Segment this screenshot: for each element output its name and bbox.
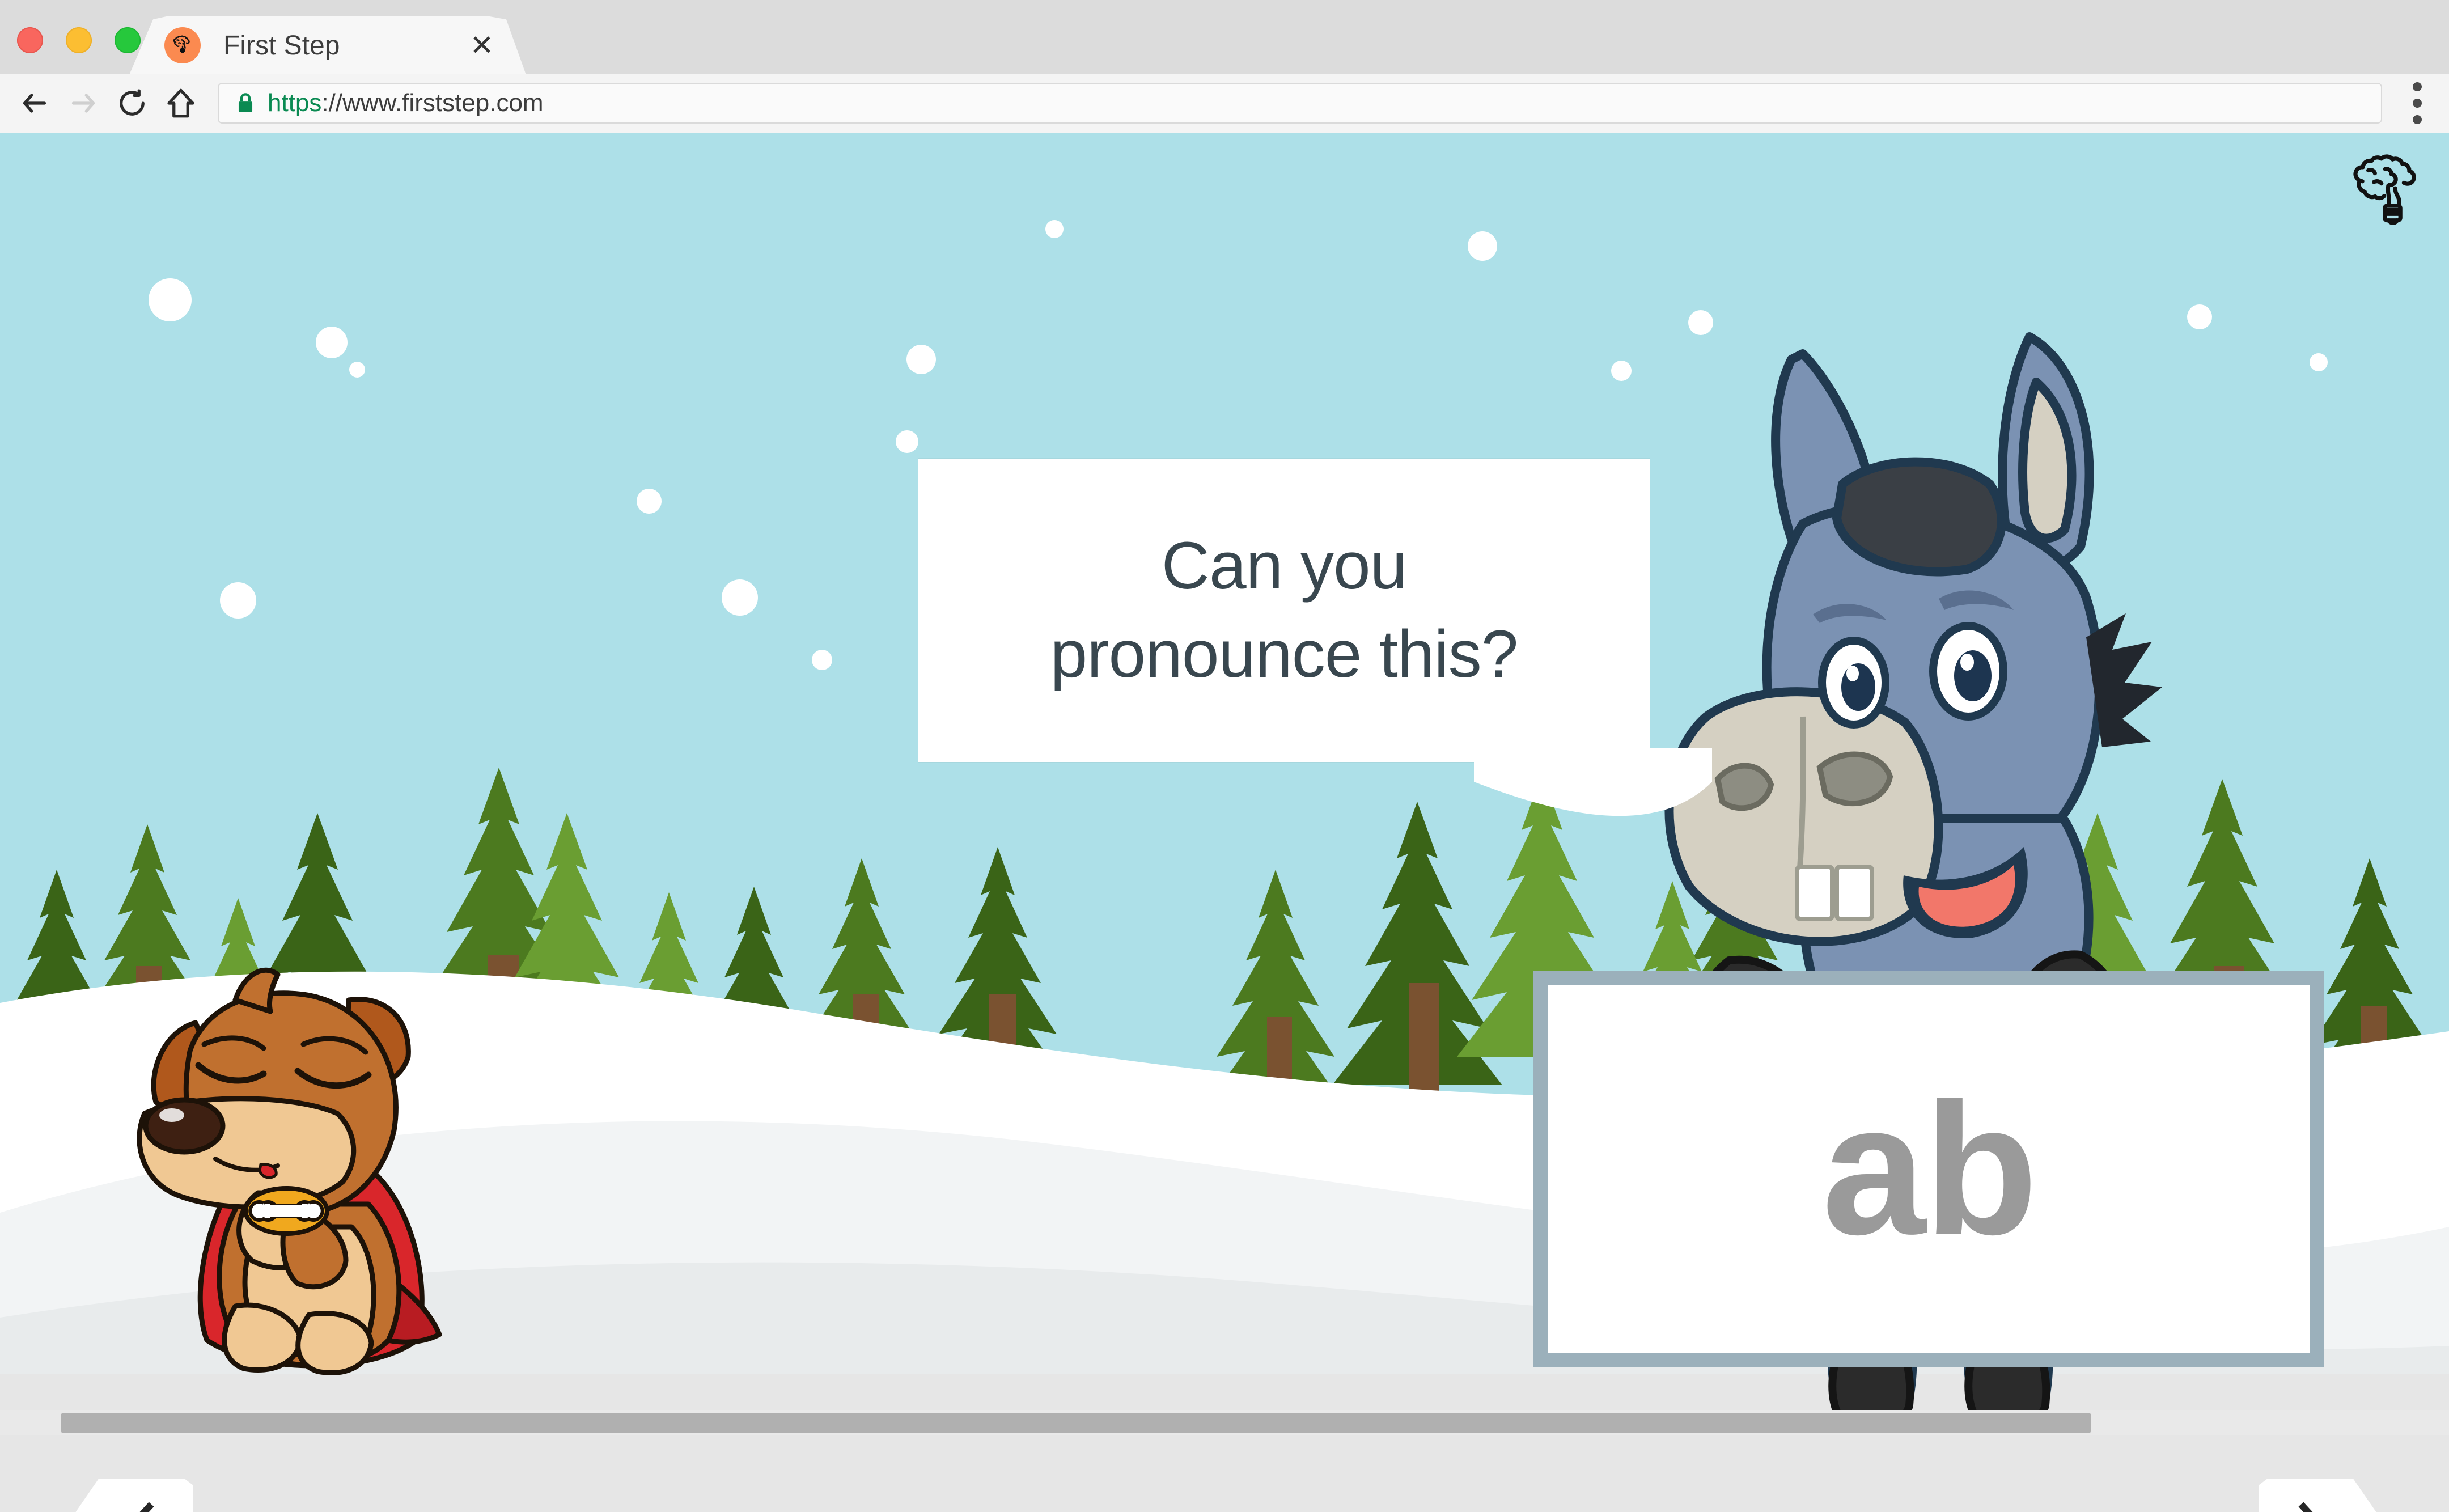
tab-title: First Step: [223, 30, 464, 61]
close-tab-button[interactable]: ✕: [464, 31, 500, 60]
scrollbar-thumb[interactable]: [61, 1413, 2091, 1433]
word-text: ab: [1822, 1075, 2036, 1263]
browser-tab[interactable]: First Step ✕: [129, 16, 526, 75]
word-card-inner: ab: [1548, 985, 2310, 1353]
address-bar-url: https://www.firststep.com: [268, 89, 544, 117]
brain-lightbulb-icon[interactable]: [2340, 145, 2431, 242]
speech-bubble-text: Can you pronounce this?: [1050, 522, 1518, 699]
minimize-window-button[interactable]: [66, 27, 92, 53]
speech-bubble: Can you pronounce this?: [918, 459, 1650, 762]
url-rest: ://www.firststep.com: [321, 89, 543, 117]
chevron-left-icon: [124, 1502, 158, 1512]
word-card[interactable]: ab: [1533, 971, 2324, 1367]
brain-lightbulb-icon: [164, 27, 201, 63]
previous-slide-button[interactable]: [65, 1479, 193, 1512]
horizontal-scrollbar[interactable]: [0, 1410, 2449, 1435]
browser-titlebar: First Step ✕: [0, 0, 2449, 74]
speech-line-1: Can you: [1050, 522, 1518, 611]
window-controls: [17, 27, 141, 53]
address-bar[interactable]: https://www.firststep.com: [218, 83, 2382, 124]
back-arrow-icon[interactable]: [10, 79, 59, 128]
speech-bubble-tail: [1474, 748, 1712, 833]
padlock-icon: [236, 92, 255, 115]
url-scheme: https: [268, 89, 321, 117]
forward-arrow-icon: [59, 79, 108, 128]
reload-icon[interactable]: [108, 79, 156, 128]
three-dots-menu-icon[interactable]: [2390, 82, 2444, 124]
close-window-button[interactable]: [17, 27, 43, 53]
chevron-right-icon: [2295, 1502, 2329, 1512]
home-icon[interactable]: [156, 79, 205, 128]
next-slide-button[interactable]: [2259, 1479, 2387, 1512]
page-viewport: ab Can you pronounce this?: [0, 133, 2449, 1512]
maximize-window-button[interactable]: [115, 27, 141, 53]
bone-collar-icon: [245, 1188, 327, 1234]
browser-window: First Step ✕ https://www.firststep.com: [0, 0, 2449, 1512]
puppy-character: [122, 943, 490, 1386]
browser-toolbar: https://www.firststep.com: [0, 74, 2449, 133]
speech-line-2: pronounce this?: [1050, 611, 1518, 699]
